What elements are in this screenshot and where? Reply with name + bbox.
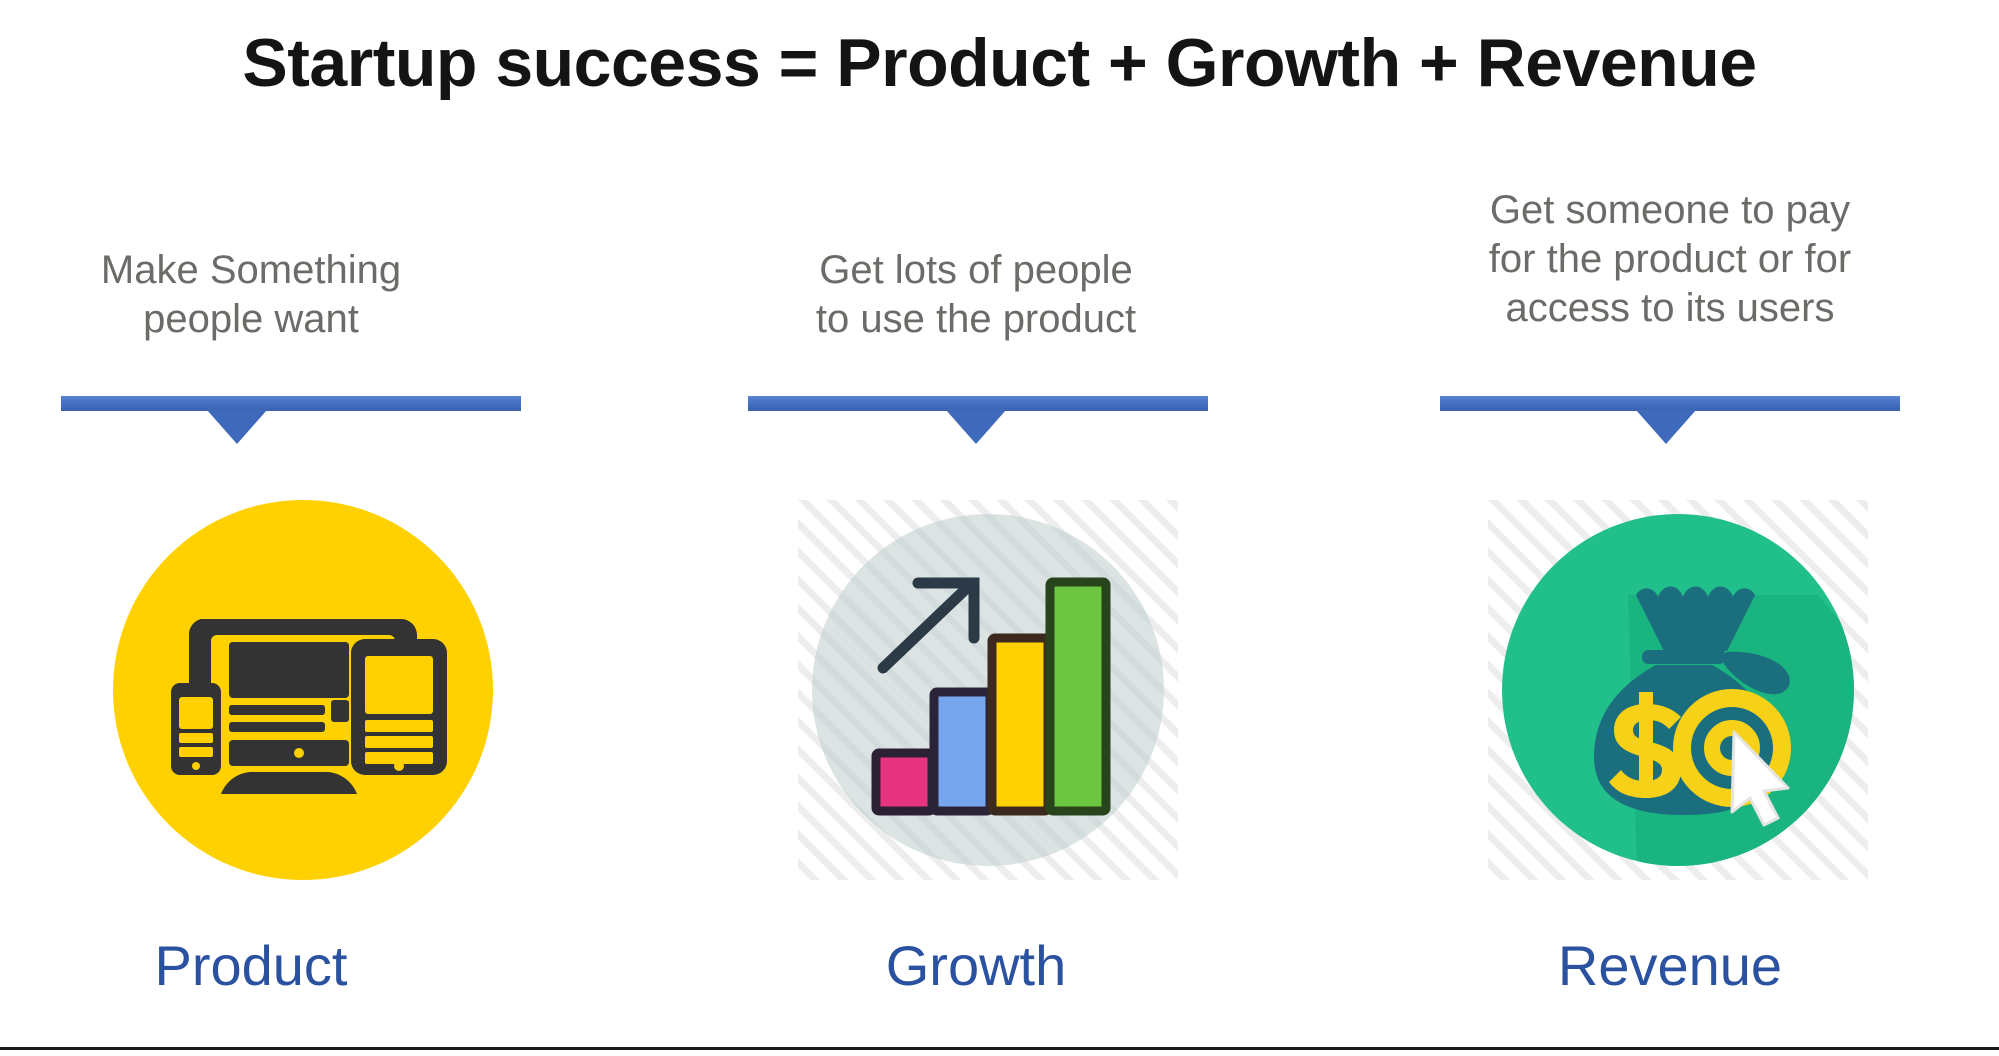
divider-product	[0, 396, 511, 456]
money-bag-click-icon	[1488, 500, 1868, 880]
column-growth: Get lots of people to use the product	[716, 0, 1236, 1056]
slide-canvas: Startup success = Product + Growth + Rev…	[0, 0, 1999, 1056]
responsive-devices-icon	[113, 500, 493, 880]
column-product: Make Something people want	[0, 0, 511, 1056]
column-caption-product: Make Something people want	[0, 246, 511, 344]
column-caption-revenue: Get someone to pay for the product or fo…	[1410, 186, 1930, 332]
divider-revenue	[1410, 396, 1930, 456]
chevron-down-icon	[946, 410, 1006, 444]
bar-chart-growth-icon	[798, 500, 1178, 880]
divider-bar	[748, 396, 1208, 411]
column-caption-growth: Get lots of people to use the product	[716, 246, 1236, 344]
footer-divider	[0, 1047, 1999, 1050]
divider-bar	[1440, 396, 1900, 411]
column-revenue: Get someone to pay for the product or fo…	[1410, 0, 1930, 1056]
divider-bar	[61, 396, 521, 411]
column-label-revenue: Revenue	[1410, 935, 1930, 997]
chevron-down-icon	[1636, 410, 1696, 444]
column-label-product: Product	[0, 935, 511, 997]
column-label-growth: Growth	[716, 935, 1236, 997]
divider-growth	[716, 396, 1236, 456]
chevron-down-icon	[207, 410, 267, 444]
